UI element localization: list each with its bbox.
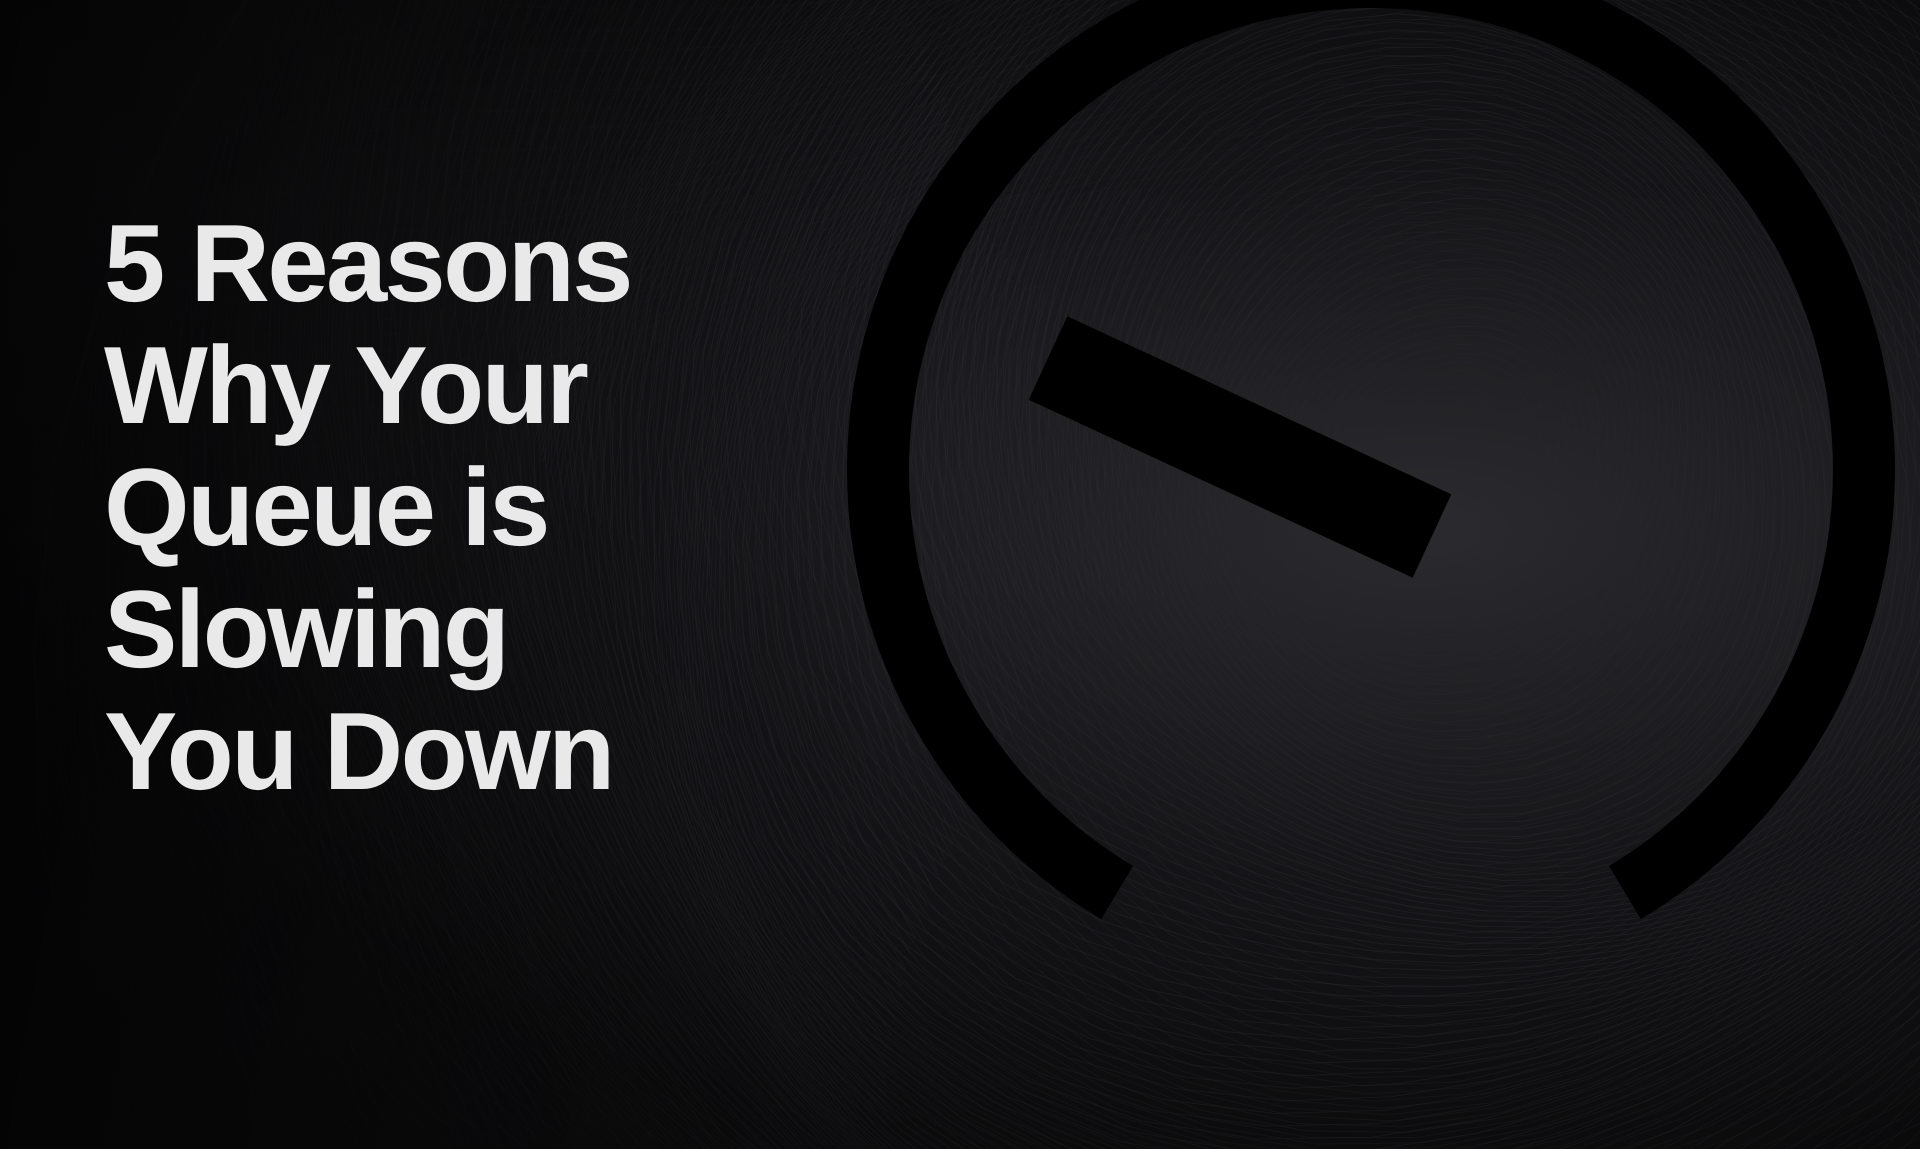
page-title: 5 Reasons Why Your Queue is Slowing You … (104, 203, 804, 813)
cover-canvas: 5 Reasons Why Your Queue is Slowing You … (0, 0, 1920, 1149)
headline-line-5: You Down (104, 691, 804, 813)
headline-line-3: Queue is (104, 447, 804, 569)
headline-line-4: Slowing (104, 569, 804, 691)
headline-line-1: 5 Reasons (104, 203, 804, 325)
headline-line-2: Why Your (104, 325, 804, 447)
